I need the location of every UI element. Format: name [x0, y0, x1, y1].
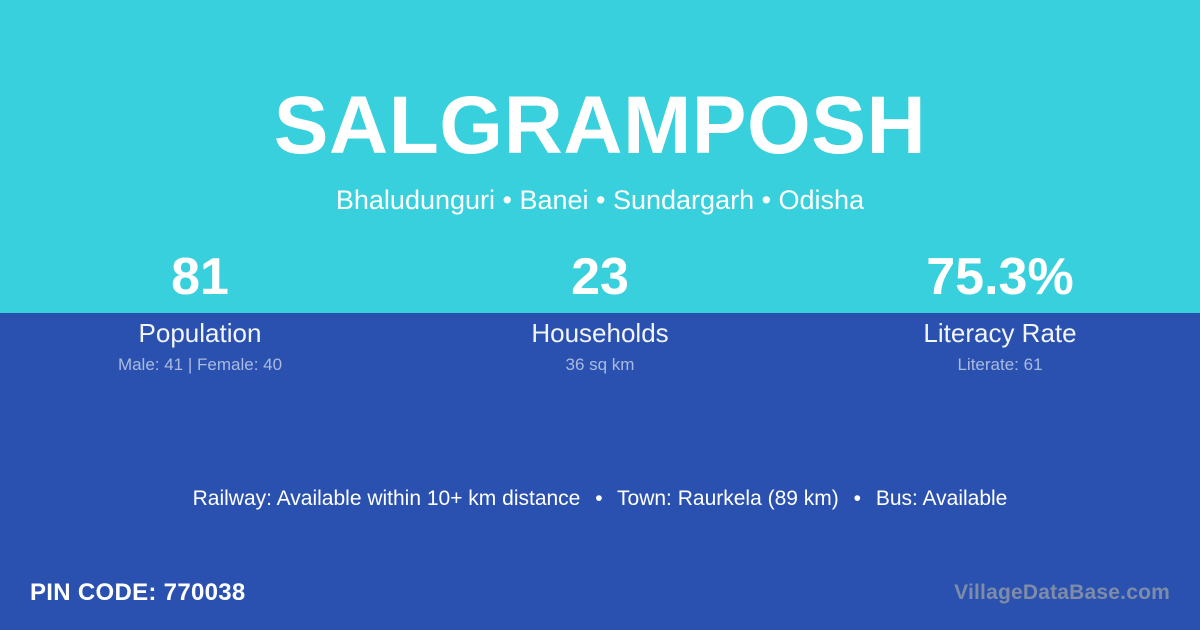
page-title: SALGRAMPOSH: [0, 78, 1200, 174]
stat-households-value: 23: [400, 243, 800, 313]
transport-separator-2: •: [845, 487, 870, 510]
transport-separator-1: •: [586, 487, 611, 510]
transport-bus: Bus: Available: [876, 487, 1008, 510]
stat-households-sub: 36 sq km: [400, 354, 800, 376]
stats-row: 81 Population Male: 41 | Female: 40 23 H…: [0, 243, 1200, 383]
footer: PIN CODE: 770038 VillageDataBase.com: [0, 573, 1200, 613]
stat-households: 23 Households 36 sq km: [400, 243, 800, 383]
stat-population-label: Population: [0, 317, 400, 349]
stat-population-value: 81: [0, 243, 400, 313]
transport-town: Town: Raurkela (89 km): [617, 487, 839, 510]
stat-literacy-rate: 75.3% Literacy Rate Literate: 61: [800, 243, 1200, 383]
stat-literacy-rate-sub: Literate: 61: [800, 354, 1200, 376]
site-brand: VillageDataBase.com: [954, 579, 1170, 607]
breadcrumb: Bhaludunguri • Banei • Sundargarh • Odis…: [0, 182, 1200, 218]
stat-households-label: Households: [400, 317, 800, 349]
village-info-card: SALGRAMPOSH Bhaludunguri • Banei • Sunda…: [0, 0, 1200, 630]
transport-info: Railway: Available within 10+ km distanc…: [0, 483, 1200, 515]
stat-population: 81 Population Male: 41 | Female: 40: [0, 243, 400, 383]
pin-code: PIN CODE: 770038: [30, 578, 246, 608]
stat-literacy-rate-label: Literacy Rate: [800, 317, 1200, 349]
transport-railway: Railway: Available within 10+ km distanc…: [193, 487, 581, 510]
stat-literacy-rate-value: 75.3%: [800, 243, 1200, 313]
stat-population-sub: Male: 41 | Female: 40: [0, 354, 400, 376]
